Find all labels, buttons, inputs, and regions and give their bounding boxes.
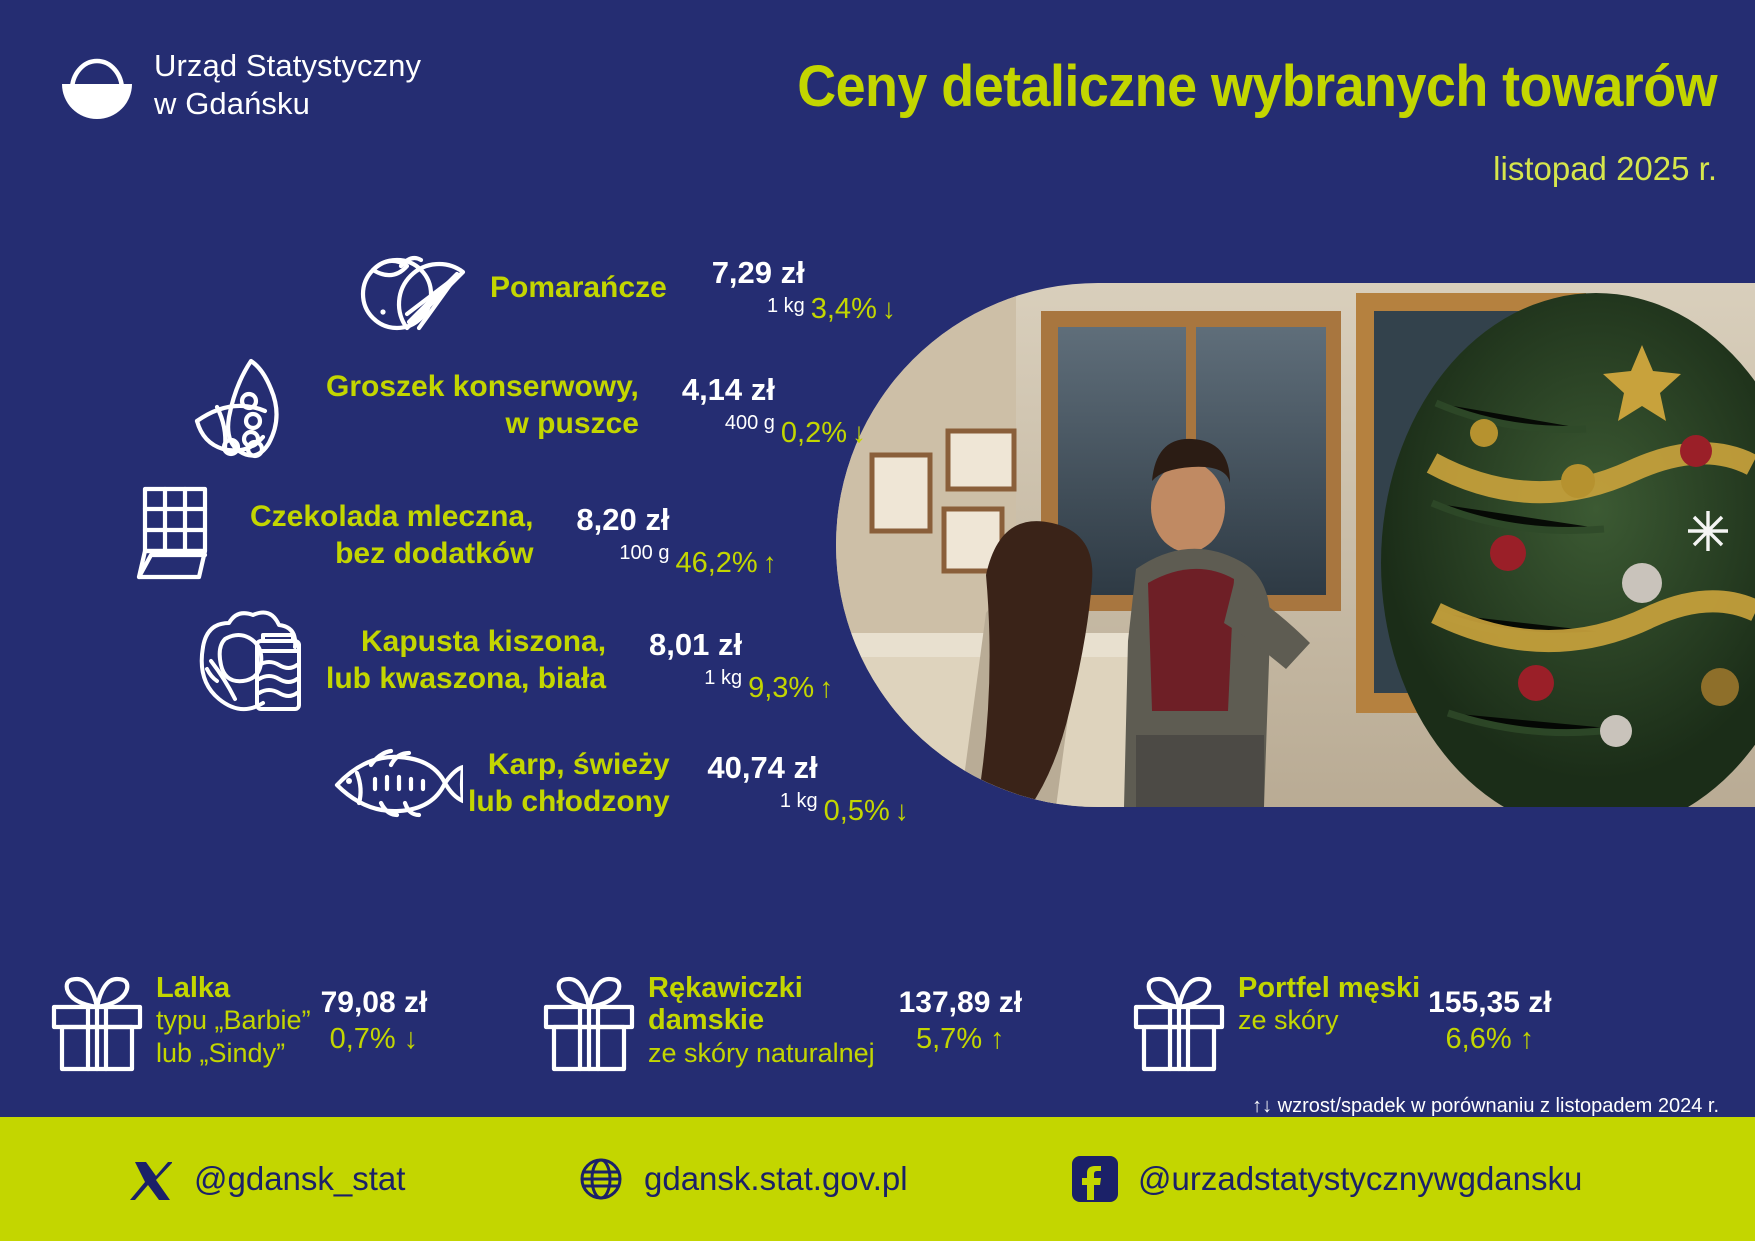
gift-price-block: 155,35 zł 6,6% ↑ xyxy=(1420,968,1551,1058)
footer-website[interactable]: gdansk.stat.gov.pl xyxy=(578,1156,908,1202)
gift-desc: typu „Barbie” lub „Sindy” xyxy=(156,1004,311,1069)
infographic-poster: Urząd Statystyczny w Gdańsku Ceny detali… xyxy=(0,0,1755,1241)
gift-box-icon xyxy=(530,968,648,1078)
product-change: 0,5%↓ xyxy=(824,797,909,838)
gift-change: 0,7% ↓ xyxy=(321,1021,428,1059)
product-change-value: 3,4% xyxy=(811,293,877,325)
product-change-value: 9,3% xyxy=(748,672,814,704)
product-row: Czekolada mleczna, bez dodatków 8,20 zł … xyxy=(100,480,777,590)
product-name: Karp, świeży lub chłodzony xyxy=(468,746,684,821)
gift-box-icon xyxy=(1120,968,1238,1078)
gift-change-value: 6,6% xyxy=(1446,1023,1512,1055)
gift-change-value: 5,7% xyxy=(916,1023,982,1055)
footer-website-label: gdansk.stat.gov.pl xyxy=(644,1160,908,1198)
page-subtitle: listopad 2025 r. xyxy=(1493,150,1717,188)
cabbage-jar-icon xyxy=(176,612,326,708)
page-title: Ceny detaliczne wybranych towarów xyxy=(768,56,1717,117)
product-unit: 400 g xyxy=(725,410,775,436)
product-price: 40,74 zł xyxy=(707,752,817,785)
arrow-down-icon: ↓ xyxy=(404,1023,419,1055)
product-change-value: 0,5% xyxy=(824,795,890,827)
product-unit: 1 kg xyxy=(767,293,805,319)
orange-icon xyxy=(340,240,490,336)
product-price: 8,01 zł xyxy=(649,629,742,662)
product-row: Kapusta kiszona, lub kwaszona, biała 8,0… xyxy=(176,605,833,715)
arrow-up-icon: ↑ xyxy=(814,672,833,703)
footer-facebook-label: @urzadstatystycznywgdansku xyxy=(1138,1160,1582,1198)
gift-text: Portfel męski ze skóry xyxy=(1238,968,1420,1037)
arrow-up-icon: ↑ xyxy=(1520,1023,1535,1055)
facebook-icon xyxy=(1072,1156,1118,1202)
logo-block: Urząd Statystyczny w Gdańsku xyxy=(58,34,421,136)
arrow-down-icon: ↓ xyxy=(847,417,866,448)
basket-logo-icon xyxy=(58,34,136,136)
gift-desc: ze skóry xyxy=(1238,1004,1420,1036)
product-change: 9,3%↑ xyxy=(748,674,833,715)
product-name: Groszek konserwowy, w puszce xyxy=(326,368,653,443)
gift-change-value: 0,7% xyxy=(330,1023,396,1055)
gift-change: 6,6% ↑ xyxy=(1428,1021,1551,1059)
gift-price-block: 79,08 zł 0,7% ↓ xyxy=(311,968,428,1058)
product-price-cell: 40,74 zł 1 kg xyxy=(684,752,824,814)
product-price-cell: 8,01 zł 1 kg xyxy=(620,629,748,691)
arrow-up-icon: ↑ xyxy=(990,1023,1005,1055)
footer-twitter[interactable]: @gdansk_stat xyxy=(128,1156,405,1202)
product-price: 8,20 zł xyxy=(576,504,669,537)
gift-price-block: 137,89 zł 5,7% ↑ xyxy=(875,968,1022,1058)
product-name: Pomarańcze xyxy=(490,269,681,307)
arrow-down-icon: ↓ xyxy=(890,795,909,826)
product-change-value: 0,2% xyxy=(781,417,847,449)
legend-note: ↑↓ wzrost/spadek w porównaniu z listopad… xyxy=(1252,1095,1719,1118)
footer-bar: @gdansk_stat gdansk.stat.gov.pl @urzadst… xyxy=(0,1117,1755,1241)
product-row: Pomarańcze 7,29 zł 1 kg 3,4%↓ xyxy=(340,240,896,336)
gift-change: 5,7% ↑ xyxy=(899,1021,1022,1059)
product-price-cell: 8,20 zł 100 g xyxy=(547,504,675,566)
product-price: 4,14 zł xyxy=(682,374,775,407)
gift-text: Rękawiczki damskie ze skóry naturalnej xyxy=(648,968,875,1069)
product-name: Czekolada mleczna, bez dodatków xyxy=(250,498,547,573)
product-change: 0,2%↓ xyxy=(781,419,866,460)
product-price: 7,29 zł xyxy=(712,257,805,290)
gift-price: 79,08 zł xyxy=(321,986,428,1021)
gift-row: Lalka typu „Barbie” lub „Sindy” 79,08 zł… xyxy=(0,968,1755,1088)
product-price-cell: 7,29 zł 1 kg xyxy=(681,257,811,319)
footer-facebook[interactable]: @urzadstatystycznywgdansku xyxy=(1072,1156,1582,1202)
gift-card: Rękawiczki damskie ze skóry naturalnej 1… xyxy=(530,968,1022,1078)
gift-name: Lalka xyxy=(156,972,311,1004)
carp-fish-icon xyxy=(318,735,468,831)
product-change: 3,4%↓ xyxy=(811,295,896,336)
chocolate-bar-icon xyxy=(100,487,250,583)
gift-name: Portfel męski xyxy=(1238,972,1420,1004)
product-unit: 1 kg xyxy=(704,665,742,691)
gift-box-icon xyxy=(38,968,156,1078)
pea-pod-icon xyxy=(176,357,326,453)
product-price-cell: 4,14 zł 400 g xyxy=(653,374,781,436)
product-change-value: 46,2% xyxy=(675,547,757,579)
product-unit: 100 g xyxy=(619,540,669,566)
gift-card: Portfel męski ze skóry 155,35 zł 6,6% ↑ xyxy=(1120,968,1552,1078)
product-change: 46,2%↑ xyxy=(675,549,776,590)
gift-price: 155,35 zł xyxy=(1428,986,1551,1021)
photo-christmas-tree xyxy=(836,283,1755,807)
product-row: Groszek konserwowy, w puszce 4,14 zł 400… xyxy=(176,350,866,460)
gift-name: Rękawiczki damskie xyxy=(648,972,875,1037)
gift-price: 137,89 zł xyxy=(899,986,1022,1021)
arrow-down-icon: ↓ xyxy=(877,293,896,324)
x-twitter-icon xyxy=(128,1156,174,1202)
gift-card: Lalka typu „Barbie” lub „Sindy” 79,08 zł… xyxy=(38,968,427,1078)
product-row: Karp, świeży lub chłodzony 40,74 zł 1 kg… xyxy=(318,728,909,838)
footer-twitter-label: @gdansk_stat xyxy=(194,1160,405,1198)
product-unit: 1 kg xyxy=(780,788,818,814)
gift-text: Lalka typu „Barbie” lub „Sindy” xyxy=(156,968,311,1069)
product-name: Kapusta kiszona, lub kwaszona, biała xyxy=(326,623,620,698)
logo-text: Urząd Statystyczny w Gdańsku xyxy=(154,47,421,123)
arrow-up-icon: ↑ xyxy=(758,547,777,578)
gift-desc: ze skóry naturalnej xyxy=(648,1037,875,1069)
globe-icon xyxy=(578,1156,624,1202)
